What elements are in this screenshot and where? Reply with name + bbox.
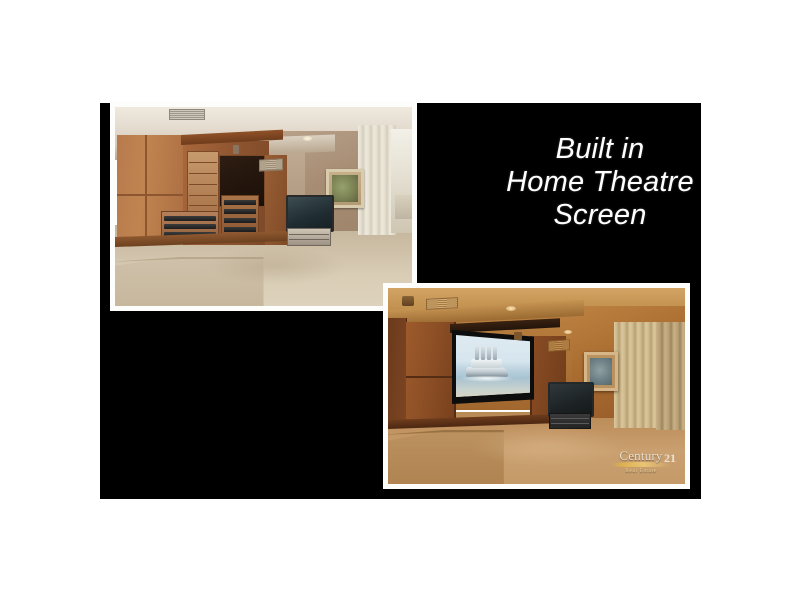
caption-line-2: Home Theatre xyxy=(500,166,700,199)
photo-home-theatre-image: Century 21 Real Estate xyxy=(388,288,685,484)
recessed-light-icon xyxy=(303,136,312,141)
patio-furniture xyxy=(395,195,412,219)
wall-vent-icon xyxy=(259,158,283,171)
ship-funnel-4 xyxy=(493,346,497,360)
theatre-recessed-light-icon xyxy=(506,306,516,311)
ship-funnel-2 xyxy=(481,346,485,360)
tv-stand xyxy=(287,228,331,246)
theatre-ceiling-vent-icon xyxy=(426,297,458,310)
theatre-carpet-shading xyxy=(471,426,620,466)
speaker-icon xyxy=(233,145,239,154)
projection-screen-image xyxy=(456,335,530,397)
photo-living-room-image xyxy=(115,107,412,306)
ceiling-vent-icon xyxy=(169,109,205,120)
collage-panel: Built in Home Theatre Screen xyxy=(100,103,701,499)
photo-home-theatre: Century 21 Real Estate xyxy=(383,283,690,489)
home-theatre-scene: Century 21 Real Estate xyxy=(388,288,685,484)
open-shelving xyxy=(187,151,219,215)
theatre-wall-vent-icon xyxy=(548,339,570,352)
theatre-recessed-light-icon-2 xyxy=(564,330,572,334)
theatre-cabinet-far-left xyxy=(388,318,407,428)
ship-funnel-3 xyxy=(487,346,491,360)
caption-line-1: Built in xyxy=(500,133,700,166)
theatre-cabinet-left xyxy=(406,322,456,426)
theatre-drapes xyxy=(614,322,658,428)
theatre-flat-panel-tv xyxy=(548,382,594,417)
ship-superstructure xyxy=(471,359,502,369)
theatre-drapes-secondary xyxy=(656,322,685,430)
theatre-surround-speaker-icon xyxy=(514,332,522,340)
ship-wake xyxy=(460,376,513,382)
caption-line-3: Screen xyxy=(500,199,700,232)
living-room-scene xyxy=(115,107,412,306)
cabinet-left-divider xyxy=(145,135,147,243)
theatre-speaker-icon xyxy=(402,296,414,306)
ship-funnel-1 xyxy=(475,346,479,360)
flat-panel-tv xyxy=(286,195,334,232)
caption-text-block: Built in Home Theatre Screen xyxy=(500,133,700,232)
carpet-shading xyxy=(204,247,347,285)
photo-living-room xyxy=(110,102,417,311)
